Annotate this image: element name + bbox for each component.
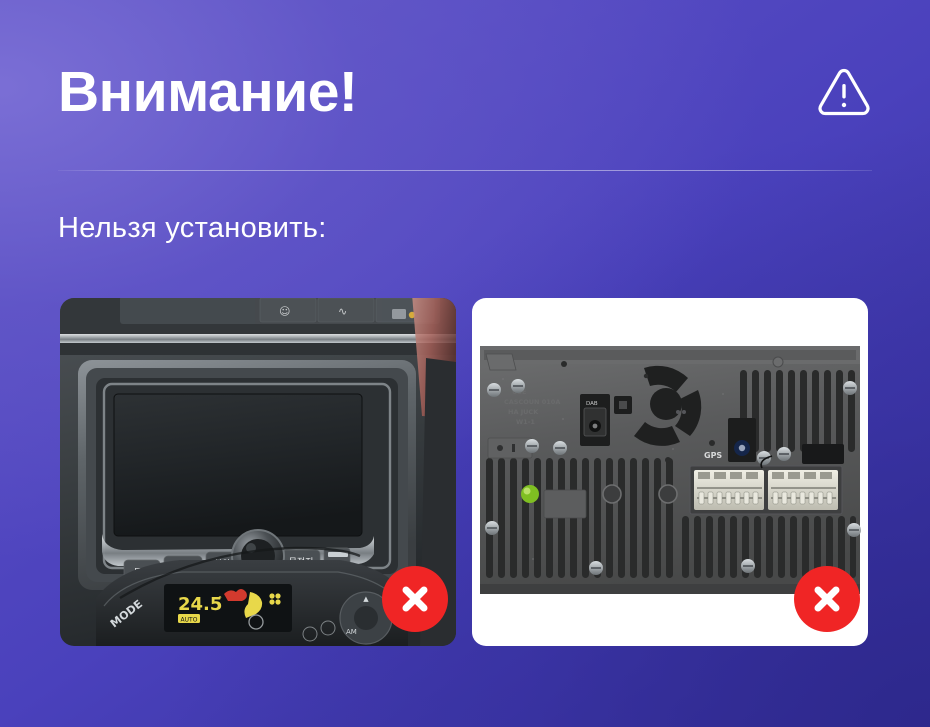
subtitle: Нельзя установить:	[58, 212, 327, 245]
svg-text:☺: ☺	[279, 305, 290, 318]
photo-card-list: ☺ ∿	[60, 298, 872, 646]
svg-text:CASCOUN 010A: CASCOUN 010A	[504, 398, 560, 406]
svg-text:DAB: DAB	[586, 401, 598, 407]
svg-text:∿: ∿	[338, 305, 347, 318]
slide-header: Внимание!	[58, 52, 872, 132]
svg-text:AM: AM	[346, 628, 357, 636]
svg-text:°: °	[218, 595, 222, 604]
card-car-dashboard[interactable]: ☺ ∿	[60, 298, 456, 646]
page-title: Внимание!	[58, 64, 357, 121]
cross-circle-icon	[382, 566, 448, 632]
svg-text:▲: ▲	[363, 595, 369, 603]
svg-text:GPS: GPS	[704, 451, 722, 460]
card-head-unit-back[interactable]: USE CASCOUN 010A HA JUCK W1-1 DAB	[472, 298, 868, 646]
svg-text:AUTO: AUTO	[181, 617, 198, 624]
header-divider	[58, 170, 872, 171]
cross-circle-icon	[794, 566, 860, 632]
svg-text:24.5: 24.5	[178, 594, 222, 615]
warning-slide: Внимание! Нельзя установить:	[0, 0, 930, 727]
svg-text:W1-1: W1-1	[516, 418, 535, 426]
svg-text:HA JUCK: HA JUCK	[508, 408, 539, 416]
warning-triangle-icon	[816, 64, 872, 120]
